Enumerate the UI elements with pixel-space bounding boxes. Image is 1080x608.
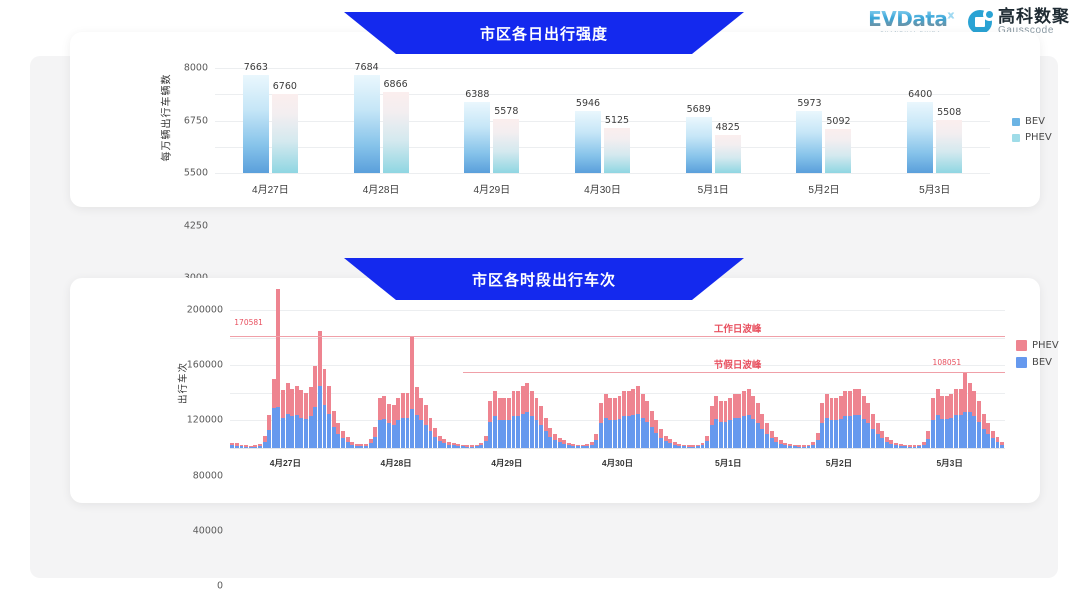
chart2-segment-bev [387, 423, 391, 448]
chart2-segment-phev [548, 428, 552, 437]
chart1-bar-bev[interactable]: 5973 [796, 111, 822, 173]
chart2-stacked-bar[interactable] [281, 390, 285, 448]
chart1-legend-item[interactable]: BEV [1012, 116, 1052, 127]
chart2-segment-bev [548, 437, 552, 448]
chart2-segment-phev [387, 404, 391, 423]
chart2-stacked-bar[interactable] [853, 389, 857, 448]
chart2-stacked-bar[interactable] [742, 391, 746, 448]
chart2-stacked-bar[interactable] [959, 389, 963, 448]
chart2-stacked-bar[interactable] [332, 411, 336, 448]
chart2-segment-bev [309, 416, 313, 448]
chart2-stacked-bar[interactable] [963, 373, 967, 448]
chart2-stacked-bar[interactable] [604, 394, 608, 449]
chart2-segment-phev [544, 418, 548, 431]
chart2-stacked-bar[interactable] [484, 436, 488, 448]
chart2-stacked-bar[interactable] [594, 434, 598, 448]
chart1-bar-phev[interactable]: 5508 [936, 120, 962, 173]
chart2-segment-bev [484, 441, 488, 448]
chart2-stacked-bar[interactable] [747, 389, 751, 448]
chart2-stacked-bar[interactable] [885, 437, 889, 448]
chart2-peak-value-label: 170581 [234, 318, 263, 327]
chart2-x-tick-labels: 4月27日4月28日4月29日4月30日5月1日5月2日5月3日 [230, 457, 1005, 469]
chart2-stacked-bar[interactable] [737, 394, 741, 449]
chart2-stacked-bar[interactable] [926, 431, 930, 448]
chart2-segment-bev [539, 425, 543, 448]
chart1-bar-value: 6388 [465, 89, 489, 100]
chart-card-hourly-trips: 出行车次 04000080000120000160000200000 4月27日… [70, 278, 1040, 503]
chart2-stacked-bar[interactable] [641, 394, 645, 449]
chart2-segment-phev [972, 391, 976, 417]
chart2-segment-bev [429, 431, 433, 448]
chart2-segment-phev [507, 398, 511, 420]
chart2-segment-phev [926, 431, 930, 439]
chart2-stacked-bar[interactable] [820, 403, 824, 448]
chart2-stacked-bar[interactable] [488, 401, 492, 448]
chart2-stacked-bar[interactable] [659, 429, 663, 448]
chart2-segment-bev [493, 416, 497, 448]
chart2-stacked-bar[interactable] [977, 401, 981, 448]
chart2-stacked-bar[interactable] [336, 423, 340, 448]
chart2-segment-bev [281, 418, 285, 448]
chart1-legend-item[interactable]: PHEV [1012, 132, 1052, 143]
chart2-segment-phev [650, 411, 654, 428]
chart2-segment-bev [336, 434, 340, 448]
chart2-segment-phev [982, 414, 986, 429]
chart2-stacked-bar[interactable] [608, 398, 612, 448]
chart2-stacked-bar[interactable] [502, 398, 506, 448]
chart1-bar-bev[interactable]: 7684 [354, 75, 380, 173]
chart2-segment-phev [608, 398, 612, 420]
chart2-stacked-bar[interactable] [719, 401, 723, 448]
chart1-x-tick-label: 4月30日 [547, 181, 658, 196]
chart2-stacked-bar[interactable] [498, 398, 502, 448]
chart2-stacked-bar[interactable] [406, 393, 410, 448]
chart2-stacked-bar[interactable] [779, 440, 783, 448]
chart2-segment-phev [309, 387, 313, 416]
chart2-segment-bev [286, 414, 290, 449]
chart2-stacked-bar[interactable] [562, 440, 566, 448]
chart2-stacked-bar[interactable] [516, 391, 520, 448]
chart2-stacked-bar[interactable] [756, 403, 760, 448]
chart2-segment-phev [857, 389, 861, 415]
chart2-segment-phev [742, 391, 746, 417]
chart2-segment-bev [488, 422, 492, 448]
chart2-segment-bev [728, 420, 732, 448]
chart2-stacked-bar[interactable] [991, 431, 995, 448]
chart2-stacked-bar[interactable] [290, 389, 294, 448]
chart2-segment-bev [498, 420, 502, 448]
chart2-segment-bev [267, 430, 271, 448]
chart2-stacked-bar[interactable] [433, 428, 437, 448]
chart2-stacked-bar[interactable] [862, 396, 866, 448]
chart2-stacked-bar[interactable] [825, 394, 829, 449]
chart2-segment-bev [871, 429, 875, 448]
chart1-legend-swatch [1012, 134, 1020, 142]
chart2-stacked-bar[interactable] [613, 398, 617, 448]
chart2-stacked-bar[interactable] [530, 391, 534, 448]
chart2-legend-item[interactable]: BEV [1016, 357, 1059, 368]
chart2-stacked-bar[interactable] [945, 396, 949, 448]
chart2-segment-phev [659, 429, 663, 437]
chart2-segment-bev [507, 420, 511, 448]
chart2-stacked-bar[interactable] [341, 431, 345, 448]
chart1-legend-label: PHEV [1025, 132, 1052, 143]
chart2-segment-bev [594, 440, 598, 448]
chart2-segment-phev [876, 423, 880, 434]
chart2-segment-bev [866, 423, 870, 448]
chart2-segment-phev [272, 379, 276, 408]
chart2-stacked-bar[interactable] [429, 418, 433, 448]
chart2-segment-phev [756, 403, 760, 423]
chart2-stacked-bar[interactable] [535, 398, 539, 448]
chart2-annotation-label-workday-peak: 工作日波峰 [714, 321, 762, 335]
chart1-bar-bev[interactable]: 7663 [243, 75, 269, 173]
chart2-y-tick: 0 [217, 581, 223, 592]
chart2-stacked-bar[interactable] [493, 391, 497, 448]
chart2-segment-bev [424, 425, 428, 448]
chart1-bar-bev[interactable]: 6400 [907, 102, 933, 173]
chart2-segment-bev [438, 441, 442, 448]
chart2-y-tick: 160000 [187, 360, 223, 371]
chart2-segment-phev [295, 386, 299, 415]
chart2-stacked-bar[interactable] [382, 396, 386, 448]
chart2-segment-bev [553, 440, 557, 448]
chart2-segment-phev [710, 406, 714, 425]
chart2-stacked-bar[interactable] [599, 403, 603, 448]
chart2-segment-bev [419, 420, 423, 448]
chart2-stacked-bar[interactable] [378, 398, 382, 448]
chart2-segment-bev [654, 433, 658, 448]
section-daily-travel-intensity: 每万辆出行车辆数 30004250550067508000 766367604月… [30, 12, 1058, 242]
chart2-stacked-bar[interactable] [839, 396, 843, 448]
chart2-segment-bev [631, 415, 635, 448]
chart2-plot-area: 04000080000120000160000200000 4月27日4月28日… [230, 310, 1005, 448]
chart2-stacked-bar[interactable] [401, 393, 405, 448]
chart2-segment-bev [313, 407, 317, 448]
chart2-stacked-bar[interactable] [507, 398, 511, 448]
chart2-segment-phev [429, 418, 433, 432]
chart1-bar-phev[interactable]: 6866 [383, 92, 409, 173]
chart2-stacked-bar[interactable] [424, 405, 428, 448]
chart2-stacked-bar[interactable] [654, 420, 658, 448]
chart2-stacked-bar[interactable] [276, 289, 280, 448]
chart2-segment-phev [622, 391, 626, 417]
chart1-bar-phev[interactable]: 5578 [493, 119, 519, 173]
chart2-stacked-bar[interactable] [760, 414, 764, 448]
chart2-segment-phev [724, 401, 728, 422]
chart1-bar-value: 5946 [576, 98, 600, 109]
chart2-legend-label: BEV [1032, 357, 1052, 368]
chart2-stacked-bar[interactable] [714, 396, 718, 448]
chart2-stacked-bar[interactable] [876, 423, 880, 448]
chart2-segment-phev [866, 403, 870, 423]
chart1-bar-value: 5973 [797, 98, 821, 109]
chart2-stacked-bar[interactable] [295, 386, 299, 448]
chart2-stacked-bar[interactable] [544, 418, 548, 448]
chart2-stacked-bar[interactable] [645, 401, 649, 448]
chart2-stacked-bar[interactable] [304, 393, 308, 448]
chart1-x-tick-label: 4月29日 [436, 181, 547, 196]
chart2-x-tick-label: 5月3日 [894, 457, 1005, 469]
dashboard-page: EVDatax SHANGHAI CHINA 高科数聚 Gausscode 每万… [0, 0, 1080, 608]
chart2-segment-bev [664, 441, 668, 448]
chart2-stacked-bar[interactable] [415, 387, 419, 448]
chart2-stacked-bar[interactable] [816, 433, 820, 448]
chart2-segment-phev [382, 396, 386, 419]
chart2-stacked-bar[interactable] [866, 403, 870, 448]
chart2-stacked-bar[interactable] [834, 398, 838, 448]
chart2-segment-phev [830, 398, 834, 420]
chart1-bar-phev[interactable]: 5125 [604, 128, 630, 173]
chart2-stacked-bar[interactable] [373, 427, 377, 448]
chart2-stacked-bar[interactable] [931, 398, 935, 448]
chart2-stacked-bar[interactable] [871, 414, 875, 448]
chart2-y-tick: 80000 [193, 470, 223, 481]
chart2-segment-bev [521, 414, 525, 449]
chart2-segment-bev [613, 420, 617, 448]
chart2-segment-bev [839, 419, 843, 448]
chart2-segment-phev [627, 391, 631, 417]
chart1-y-tick: 6750 [184, 115, 208, 126]
chart2-stacked-bar[interactable] [539, 406, 543, 448]
chart1-bar-bev[interactable]: 5946 [575, 111, 601, 173]
chart1-bar-value: 5125 [605, 115, 629, 126]
chart2-stacked-bar[interactable] [267, 415, 271, 448]
chart2-legend-swatch [1016, 340, 1027, 351]
chart2-segment-phev [488, 401, 492, 422]
chart2-stacked-bar[interactable] [419, 398, 423, 448]
chart2-stacked-bar[interactable] [668, 439, 672, 448]
chart2-legend-label: PHEV [1032, 340, 1059, 351]
chart2-stacked-bar[interactable] [724, 401, 728, 448]
chart2-stacked-bar[interactable] [286, 383, 290, 448]
chart1-bar-phev[interactable]: 5092 [825, 129, 851, 173]
chart2-segment-phev [719, 401, 723, 422]
chart2-segment-bev [525, 412, 529, 448]
chart2-segment-bev [650, 427, 654, 448]
chart2-segment-bev [323, 405, 327, 448]
chart2-legend: PHEVBEV [1016, 340, 1059, 368]
chart2-x-tick-label: 4月27日 [230, 457, 341, 469]
chart2-stacked-bar[interactable] [733, 394, 737, 449]
chart2-stacked-bar[interactable] [770, 431, 774, 448]
chart2-stacked-bar[interactable] [618, 396, 622, 448]
chart1-bar-group: 597350925月2日 [769, 68, 880, 173]
chart1-y-tick: 8000 [184, 63, 208, 74]
chart2-stacked-bar[interactable] [299, 390, 303, 448]
chart2-segment-bev [502, 420, 506, 448]
chart2-stacked-bar[interactable] [710, 406, 714, 448]
chart2-segment-phev [940, 396, 944, 419]
chart2-stacked-bar[interactable] [880, 431, 884, 448]
chart2-stacked-bar[interactable] [996, 437, 1000, 448]
chart2-x-tick-label: 4月30日 [562, 457, 673, 469]
chart2-segment-phev [323, 369, 327, 405]
chart2-stacked-bar[interactable] [369, 439, 373, 448]
chart2-stacked-bar[interactable] [558, 438, 562, 448]
chart2-segment-bev [710, 425, 714, 448]
chart2-segment-bev [751, 419, 755, 448]
chart2-segment-bev [747, 415, 751, 448]
chart2-segment-bev [373, 437, 377, 448]
chart2-segment-phev [714, 396, 718, 419]
chart2-segment-bev [825, 418, 829, 448]
banner-title-2: 市区各时段出行车次 [472, 269, 616, 290]
chart2-segment-phev [641, 394, 645, 418]
chart2-segment-phev [535, 398, 539, 420]
chart2-x-axis [230, 448, 1005, 449]
chart2-segment-phev [816, 433, 820, 440]
chart1-y-tick: 5500 [184, 168, 208, 179]
chart2-stacked-bar[interactable] [327, 386, 331, 448]
chart1-x-tick-label: 5月1日 [658, 181, 769, 196]
chart2-stacked-bar[interactable] [309, 387, 313, 448]
chart2-segment-phev [341, 431, 345, 439]
chart2-segment-bev [604, 418, 608, 448]
chart2-stacked-bar[interactable] [636, 386, 640, 448]
chart2-stacked-bar[interactable] [553, 434, 557, 448]
chart2-segment-bev [991, 438, 995, 448]
chart2-stacked-bar[interactable] [774, 437, 778, 448]
chart2-segment-bev [290, 416, 294, 448]
chart2-segment-phev [820, 403, 824, 423]
chart2-stacked-bar[interactable] [396, 398, 400, 448]
chart2-stacked-bar[interactable] [323, 369, 327, 448]
chart2-stacked-bar[interactable] [346, 437, 350, 448]
chart2-segment-phev [747, 389, 751, 415]
chart2-segment-bev [949, 418, 953, 448]
chart2-segment-bev [733, 418, 737, 448]
chart2-segment-bev [968, 412, 972, 448]
chart2-stacked-bar[interactable] [705, 436, 709, 448]
chart2-stacked-bar[interactable] [843, 391, 847, 448]
chart2-stacked-bar[interactable] [263, 436, 267, 448]
chart2-segment-bev [830, 420, 834, 448]
chart2-segment-phev [401, 393, 405, 418]
chart1-bar-value: 5092 [826, 116, 850, 127]
chart2-stacked-bar[interactable] [751, 396, 755, 448]
chart2-segment-phev [770, 431, 774, 439]
chart2-segment-bev [862, 419, 866, 448]
chart2-segment-bev [659, 438, 663, 448]
chart2-stacked-bar[interactable] [410, 336, 414, 448]
chart2-segment-bev [276, 407, 280, 448]
chart2-stacked-bar[interactable] [857, 389, 861, 448]
chart1-bar-groups: 766367604月27日768468664月28日638855784月29日5… [215, 68, 990, 173]
chart2-segment-bev [737, 418, 741, 448]
chart1-bar-phev[interactable]: 4825 [715, 135, 741, 173]
chart2-segment-bev [977, 422, 981, 448]
chart2-segment-bev [848, 416, 852, 448]
chart2-stacked-bar[interactable] [848, 391, 852, 448]
chart2-stacked-bar[interactable] [936, 389, 940, 448]
chart2-stacked-bar[interactable] [765, 423, 769, 448]
chart2-x-tick-label: 5月1日 [673, 457, 784, 469]
chart2-y-tick: 40000 [193, 525, 223, 536]
chart2-stacked-bar[interactable] [949, 394, 953, 449]
chart2-stacked-bar[interactable] [521, 386, 525, 448]
chart2-stacked-bar[interactable] [442, 439, 446, 448]
chart2-segment-bev [401, 418, 405, 448]
banner-daily-intensity: 市区各日出行强度 [344, 12, 744, 54]
chart2-stacked-bar[interactable] [318, 331, 322, 448]
chart2-stacked-bar[interactable] [272, 379, 276, 448]
chart2-segment-bev [406, 418, 410, 448]
chart1-y-tick: 4250 [184, 220, 208, 231]
chart2-segment-bev [332, 427, 336, 448]
chart2-y-tick: 120000 [187, 415, 223, 426]
chart2-segment-bev [857, 415, 861, 448]
chart2-segment-bev [304, 419, 308, 448]
chart2-segment-phev [848, 391, 852, 417]
chart1-bar-phev[interactable]: 6760 [272, 94, 298, 173]
chart2-legend-item[interactable]: PHEV [1016, 340, 1059, 351]
chart2-segment-bev [765, 434, 769, 448]
chart2-stacked-bar[interactable] [940, 396, 944, 448]
chart2-stacked-bar[interactable] [830, 398, 834, 448]
chart2-stacked-bar[interactable] [548, 428, 552, 448]
chart2-stacked-bar[interactable] [387, 404, 391, 448]
chart2-stacked-bar[interactable] [313, 366, 317, 448]
chart1-bar-bev[interactable]: 5689 [686, 117, 712, 173]
chart2-segment-phev [424, 405, 428, 424]
chart2-segment-phev [737, 394, 741, 418]
chart2-segment-bev [719, 422, 723, 448]
chart2-stacked-bar[interactable] [631, 389, 635, 448]
chart2-stacked-bar[interactable] [986, 423, 990, 448]
chart2-stacked-bar[interactable] [982, 414, 986, 448]
chart2-stacked-bar[interactable] [972, 391, 976, 448]
chart2-segment-phev [332, 411, 336, 428]
chart2-segment-bev [959, 415, 963, 448]
chart2-segment-bev [724, 422, 728, 448]
chart2-stacked-bar[interactable] [627, 391, 631, 448]
chart2-x-tick-label: 4月29日 [451, 457, 562, 469]
chart2-segment-phev [336, 423, 340, 434]
chart2-segment-phev [392, 405, 396, 424]
chart2-stacked-bar[interactable] [889, 440, 893, 448]
chart2-segment-phev [378, 398, 382, 420]
chart1-bar-value: 4825 [716, 122, 740, 133]
chart2-segment-bev [410, 409, 414, 448]
chart2-stacked-bar[interactable] [954, 389, 958, 448]
chart2-stacked-bar[interactable] [512, 391, 516, 448]
chart2-segment-phev [493, 391, 497, 417]
chart1-bar-value: 7663 [244, 62, 268, 73]
chart1-bar-value: 7684 [354, 62, 378, 73]
chart2-segment-phev [613, 398, 617, 420]
chart2-stacked-bar[interactable] [728, 398, 732, 448]
chart2-stacked-bar[interactable] [622, 391, 626, 448]
chart2-stacked-bar[interactable] [650, 411, 654, 448]
chart2-stacked-bar[interactable] [664, 436, 668, 448]
chart2-segment-phev [645, 401, 649, 422]
chart2-stacked-bar[interactable] [438, 436, 442, 448]
chart2-segment-phev [825, 394, 829, 418]
chart2-segment-phev [945, 396, 949, 419]
chart2-segment-phev [931, 398, 935, 420]
chart2-stacked-bar[interactable] [525, 383, 529, 448]
chart2-stacked-bar[interactable] [968, 383, 972, 448]
chart2-segment-phev [318, 331, 322, 386]
chart2-segment-bev [880, 438, 884, 448]
chart1-bar-bev[interactable]: 6388 [464, 102, 490, 173]
chart2-segment-phev [498, 398, 502, 420]
chart2-stacked-bar[interactable] [392, 405, 396, 448]
chart2-segment-bev [954, 415, 958, 448]
chart1-bar-value: 5689 [687, 104, 711, 115]
chart1-legend-swatch [1012, 118, 1020, 126]
